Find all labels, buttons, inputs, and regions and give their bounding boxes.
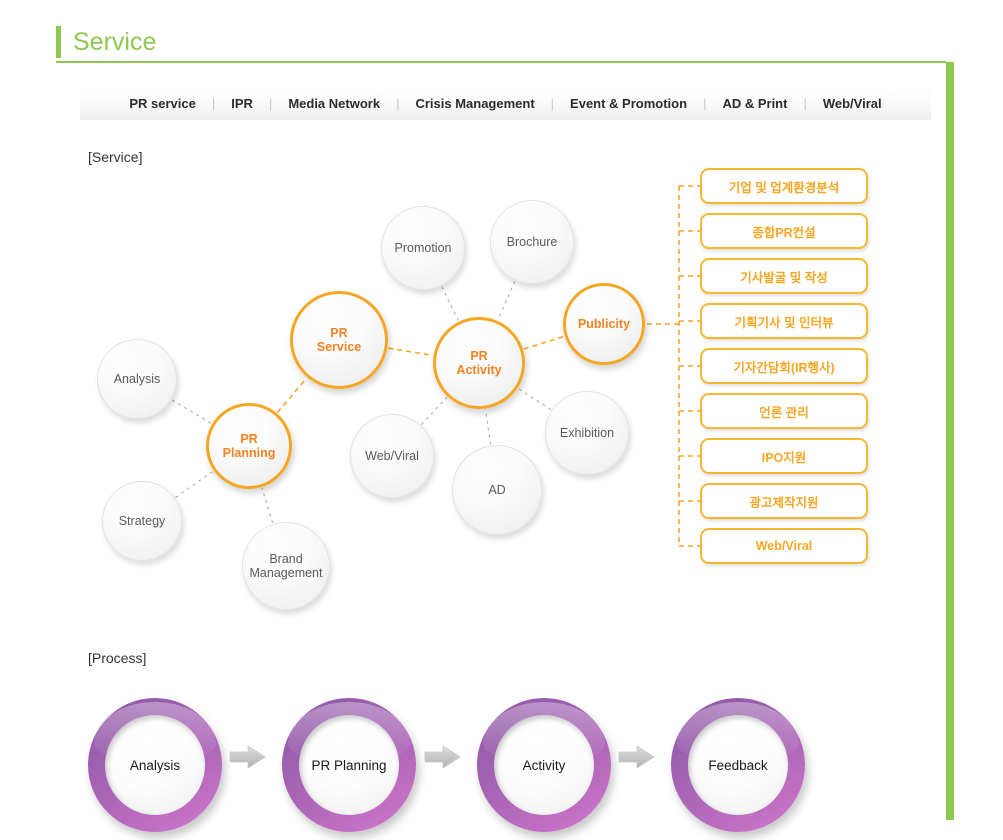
process-diagram: AnalysisPR PlanningActivityFeedback [0,688,1003,838]
process-arrow-icon-2 [617,744,657,770]
diagram-node-ad[interactable]: AD [452,445,542,535]
diagram-node-label: Publicity [574,317,634,331]
service-box-7[interactable]: 광고제작지원 [700,483,868,519]
connector-analysis-to-pr-planning [172,400,211,423]
diagram-node-label: Brand Management [246,552,327,581]
service-box-0[interactable]: 기업 및 업계환경분석 [700,168,868,204]
connector-ad-to-pr-activity [486,410,491,445]
service-box-label: Web/Viral [756,539,813,553]
diagram-node-brochure[interactable]: Brochure [490,200,574,284]
connector-pr-planning-to-pr-service [277,378,306,412]
process-step-0[interactable]: Analysis [88,698,222,832]
connector-pr-service-to-pr-activity [388,348,432,355]
process-step-label: Activity [494,715,594,815]
connector-brand-to-pr-planning [262,488,273,523]
diagram-node-label: Exhibition [556,426,618,440]
diagram-node-label: Brochure [503,235,562,249]
service-box-label: 종합PR컨설 [752,222,815,241]
process-step-label: PR Planning [299,715,399,815]
diagram-node-label: Promotion [391,241,456,255]
diagram-node-exhibition[interactable]: Exhibition [545,391,629,475]
diagram-node-strategy[interactable]: Strategy [102,481,182,561]
diagram-node-analysis[interactable]: Analysis [97,339,177,419]
diagram-node-publicity[interactable]: Publicity [563,283,645,365]
process-arrow-icon-1 [423,744,463,770]
process-step-label: Analysis [105,715,205,815]
connector-promotion-to-pr-activity [442,287,459,321]
process-step-3[interactable]: Feedback [671,698,805,832]
diagram-node-label: Web/Viral [361,449,423,463]
diagram-node-web-viral[interactable]: Web/Viral [350,414,434,498]
diagram-node-label: Strategy [115,514,170,528]
process-arrow-icon-0 [228,744,268,770]
connector-exhibition-to-pr-activity [518,389,550,410]
service-box-label: 기사발굴 및 작성 [740,267,827,286]
service-box-label: 언론 관리 [759,402,808,421]
service-box-2[interactable]: 기사발굴 및 작성 [700,258,868,294]
diagram-node-pr-activity[interactable]: PR Activity [433,317,525,409]
diagram-node-label: PR Activity [452,349,505,378]
section-label-process: [Process] [88,650,146,666]
service-box-3[interactable]: 기획기사 및 인터뷰 [700,303,868,339]
process-step-1[interactable]: PR Planning [282,698,416,832]
service-box-4[interactable]: 기자간담회(IR행사) [700,348,868,384]
connector-pr-activity-to-publicity [524,337,564,349]
service-box-label: 기업 및 업계환경분석 [729,177,839,196]
service-diagram: AnalysisStrategyBrand ManagementPR Plann… [0,0,1003,640]
service-box-label: 기획기사 및 인터뷰 [735,312,834,331]
process-step-label: Feedback [688,715,788,815]
process-step-2[interactable]: Activity [477,698,611,832]
diagram-node-pr-service[interactable]: PR Service [290,291,388,389]
service-box-1[interactable]: 종합PR컨설 [700,213,868,249]
service-box-label: IPO지원 [762,447,807,466]
connector-brochure-to-pr-activity [498,281,515,320]
diagram-node-pr-planning[interactable]: PR Planning [206,403,292,489]
diagram-node-label: PR Service [313,326,365,355]
connector-strategy-to-pr-planning [176,471,213,497]
diagram-node-label: PR Planning [219,432,280,461]
service-box-6[interactable]: IPO지원 [700,438,868,474]
diagram-node-label: Analysis [110,372,165,386]
service-box-label: 기자간담회(IR행사) [733,357,834,376]
diagram-node-promotion[interactable]: Promotion [381,206,465,290]
service-box-label: 광고제작지원 [749,492,818,511]
connector-web-viral-to-pr-activity [421,397,447,424]
service-box-8[interactable]: Web/Viral [700,528,868,564]
diagram-node-label: AD [484,483,509,497]
service-box-5[interactable]: 언론 관리 [700,393,868,429]
diagram-node-brand[interactable]: Brand Management [242,522,330,610]
